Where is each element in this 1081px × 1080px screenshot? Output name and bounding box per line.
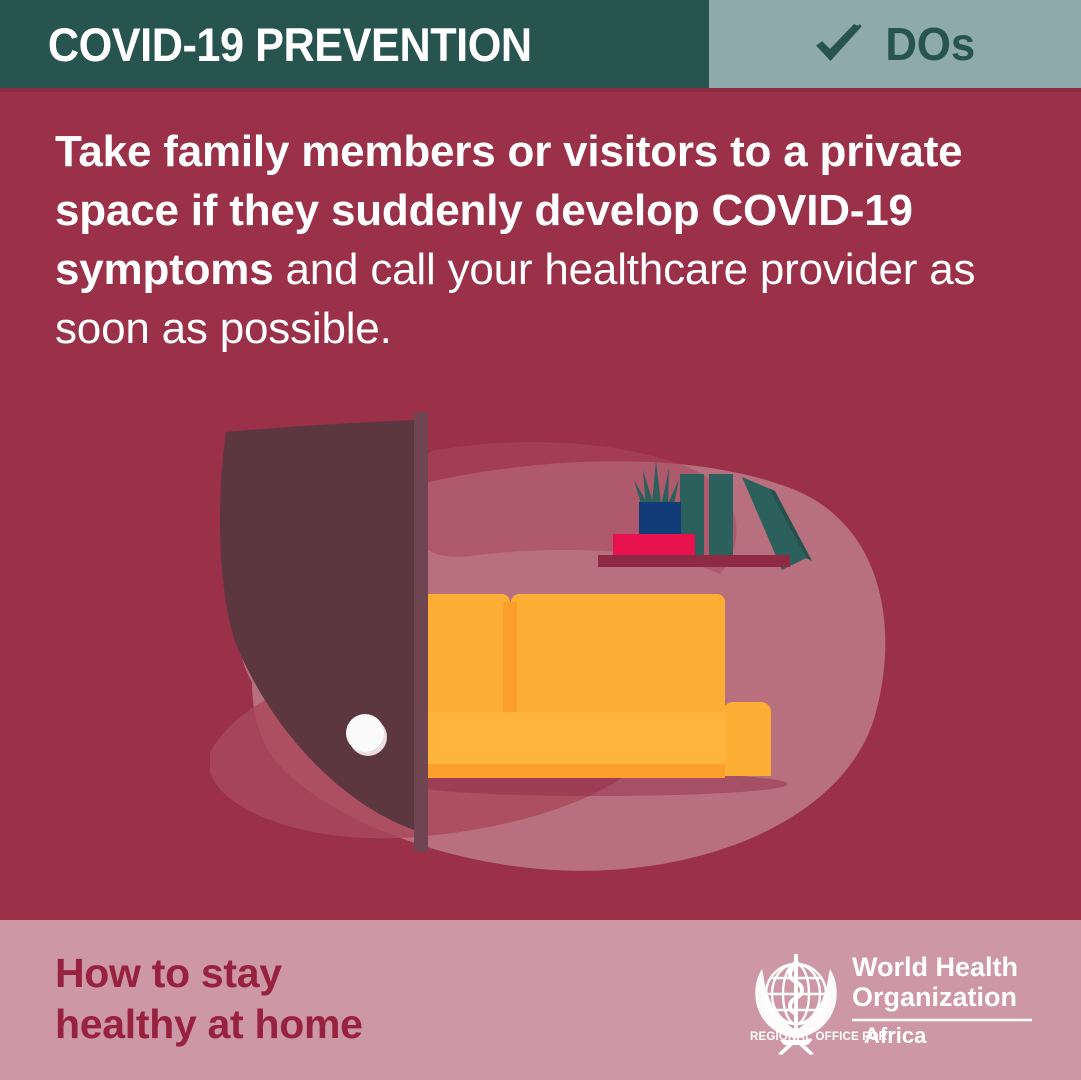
sofa-back-cushion-right [511,594,725,712]
header-title-section: COVID-19 PREVENTION [0,0,709,88]
header-divider [0,88,1081,92]
sofa-seat-cushion [420,712,725,764]
footer-tagline-line1: How to stay [55,948,363,999]
door-edge [414,412,428,852]
footer-bar: How to stay healthy at home [0,920,1081,1080]
sofa-armrest [723,702,771,776]
header-bar: COVID-19 PREVENTION DOs [0,0,1081,88]
book-upright-2 [709,474,733,560]
book-stack [613,534,695,556]
sofa-base [420,764,725,778]
footer-tagline: How to stay healthy at home [55,948,363,1050]
who-org-line2: Organization [852,982,1017,1012]
header-dos-label: DOs [885,17,975,71]
home-illustration [0,392,1081,920]
poster-canvas: COVID-19 PREVENTION DOs Take family memb… [0,0,1081,1080]
who-region: Africa [864,1023,927,1048]
who-logo: World Health Organization REGIONAL OFFIC… [740,942,1040,1062]
page-title: COVID-19 PREVENTION [0,17,532,72]
who-org-line1: World Health [852,952,1018,982]
sofa-back-cushion-left [420,594,510,712]
header-dos-section: DOs [709,0,1081,88]
footer-tagline-line2: healthy at home [55,999,363,1050]
shelf-board [598,555,790,567]
prevention-message: Take family members or visitors to a pri… [55,122,985,358]
sofa-cushion-gap [503,602,517,712]
door-knob [346,714,384,752]
check-icon [813,22,865,66]
